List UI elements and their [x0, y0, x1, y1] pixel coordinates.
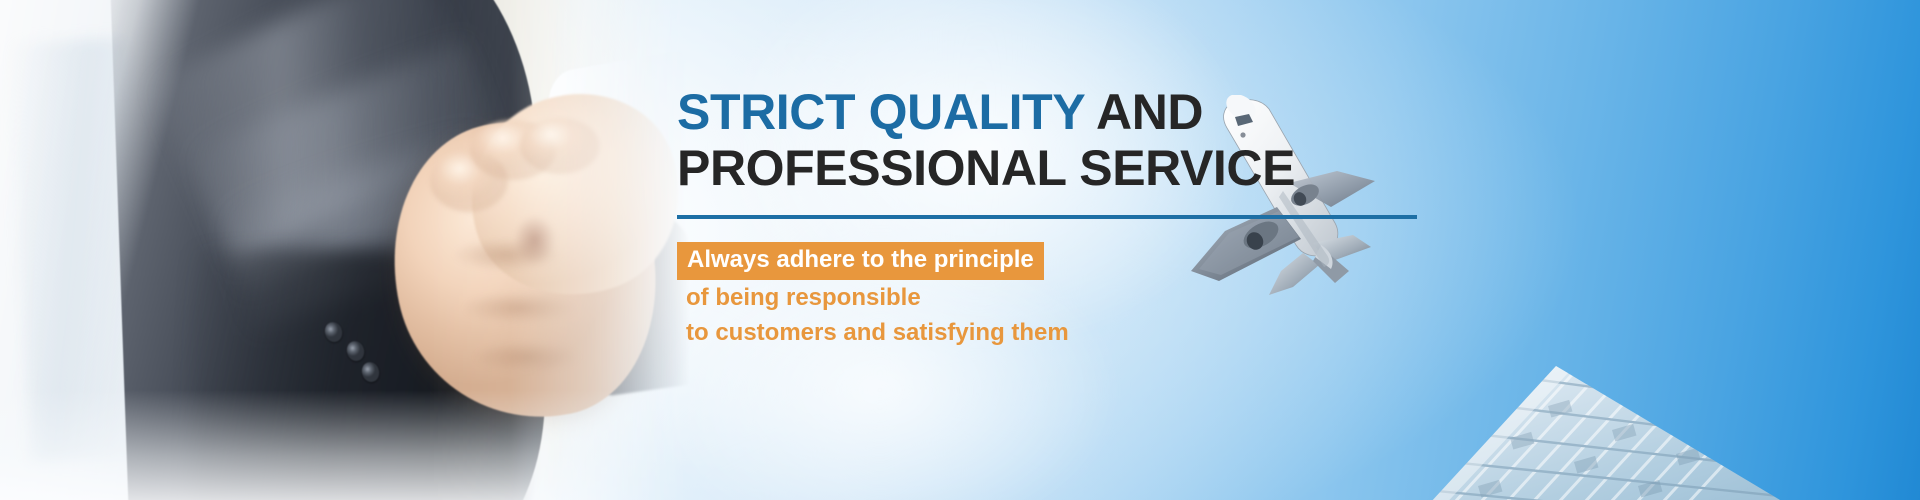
headline-rest-text: AND — [1084, 84, 1203, 140]
knuckle-3 — [520, 118, 600, 174]
subtitle-line-1: Always adhere to the principle — [677, 242, 1044, 280]
finger-crease-2 — [440, 286, 600, 330]
headline-line-1: STRICT QUALITY AND — [677, 84, 1497, 140]
headline-line-2-text: PROFESSIONAL SERVICE — [677, 140, 1295, 196]
photo-bottom-fade — [0, 390, 690, 500]
promo-banner: STRICT QUALITY AND PROFESSIONAL SERVICE … — [0, 0, 1920, 500]
thumb-shadow — [505, 205, 565, 275]
finger-crease-3 — [452, 336, 602, 378]
headline-line-2: PROFESSIONAL SERVICE — [677, 140, 1497, 196]
handshake-photo — [0, 0, 690, 500]
subtitle-line-2: of being responsible — [677, 280, 1497, 315]
subtitle-block: Always adhere to the principle of being … — [677, 242, 1497, 350]
banner-copy: STRICT QUALITY AND PROFESSIONAL SERVICE … — [677, 84, 1497, 350]
subtitle-line-3: to customers and satisfying them — [677, 315, 1497, 350]
headline-divider — [677, 215, 1417, 219]
headline-highlight-text: STRICT QUALITY — [677, 84, 1084, 140]
subtitle-line-1-wrap: Always adhere to the principle — [677, 242, 1497, 280]
